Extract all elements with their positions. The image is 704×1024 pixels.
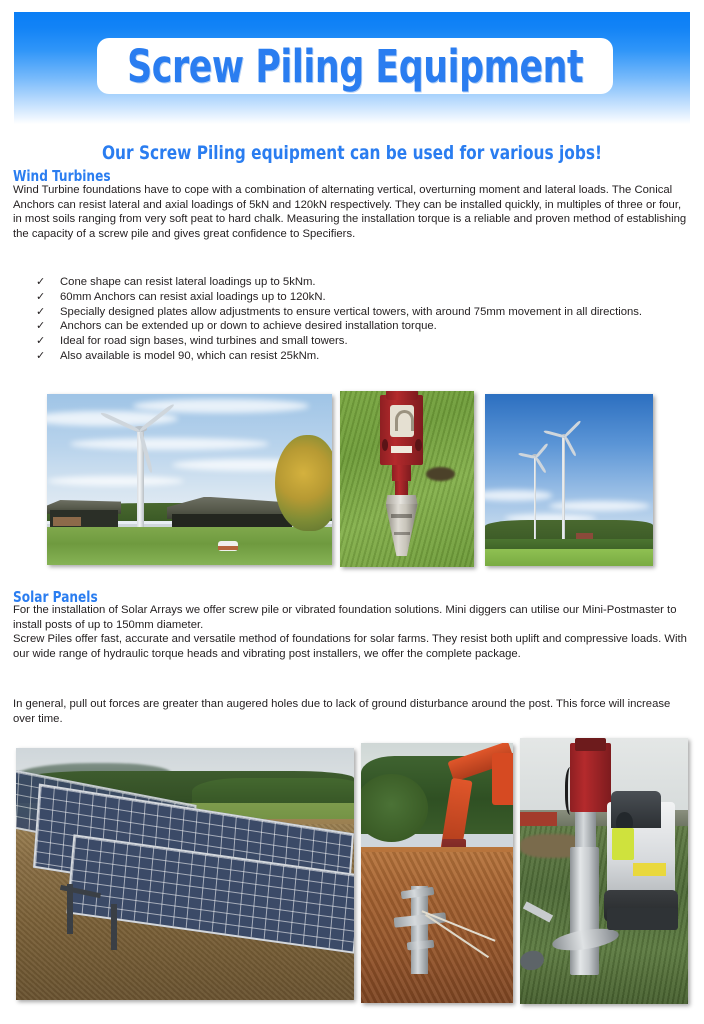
check-icon: ✓ [36,334,60,349]
wind-turbines-paragraph: Wind Turbine foundations have to cope wi… [13,183,689,241]
list-item: ✓ Ideal for road sign bases, wind turbin… [36,334,686,349]
wind-turbines-bullet-list: ✓ Cone shape can resist lateral loadings… [36,275,686,364]
list-item: ✓ 60mm Anchors can resist axial loadings… [36,290,686,305]
title-plate: Screw Piling Equipment [97,38,613,94]
list-item-label: 60mm Anchors can resist axial loadings u… [60,290,686,305]
mini-digger-post-driver-photo [520,738,688,1004]
banner-gradient: Screw Piling Equipment [14,12,690,124]
solar-paragraph-1: For the installation of Solar Arrays we … [13,603,691,632]
list-item-label: Cone shape can resist lateral loadings u… [60,275,686,290]
two-small-wind-turbines-photo [485,394,653,566]
header-banner: Screw Piling Equipment [14,12,690,124]
ground-mounted-solar-array-photo [16,748,354,1000]
check-icon: ✓ [36,290,60,305]
red-torque-head-conical-anchor-photo [340,391,474,567]
subtitle: Our Screw Piling equipment can be used f… [35,142,669,164]
list-item: ✓ Anchors can be extended up or down to … [36,319,686,334]
check-icon: ✓ [36,319,60,334]
solar-paragraph-3: In general, pull out forces are greater … [13,697,691,726]
check-icon: ✓ [36,305,60,320]
excavator-installing-screw-pile-photo [361,743,513,1003]
wind-turbine-on-farm-photo [47,394,332,565]
list-item-label: Ideal for road sign bases, wind turbines… [60,334,686,349]
check-icon: ✓ [36,275,60,290]
list-item-label: Specially designed plates allow adjustme… [60,305,686,320]
solar-paragraph-2: Screw Piles offer fast, accurate and ver… [13,632,691,661]
list-item-label: Anchors can be extended up or down to ac… [60,319,686,334]
check-icon: ✓ [36,349,60,364]
list-item: ✓ Specially designed plates allow adjust… [36,305,686,320]
solar-panels-paragraph-group-1: For the installation of Solar Arrays we … [13,603,691,661]
list-item-label: Also available is model 90, which can re… [60,349,686,364]
page-title: Screw Piling Equipment [127,44,583,89]
brochure-page: Screw Piling Equipment Our Screw Piling … [0,0,704,1024]
list-item: ✓ Also available is model 90, which can … [36,349,686,364]
list-item: ✓ Cone shape can resist lateral loadings… [36,275,686,290]
